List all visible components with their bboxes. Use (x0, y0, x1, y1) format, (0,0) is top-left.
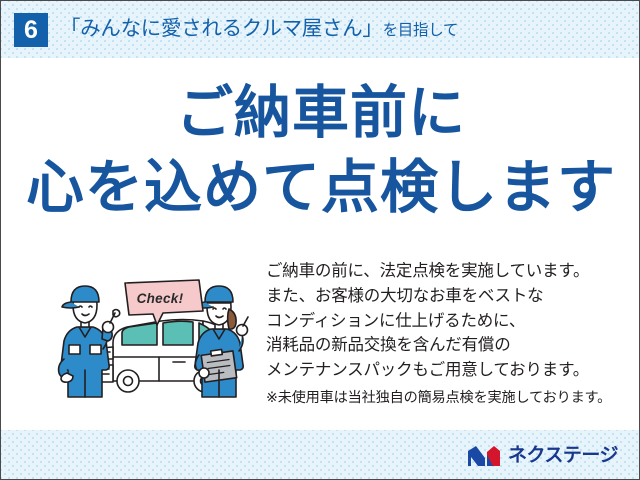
advertisement-page: 6 「みんなに愛されるクルマ屋さん」 を目指して ご納車前に 心を込めて点検しま… (0, 0, 640, 480)
headline-line-1: ご納車前に (1, 85, 640, 142)
body-line-1: ご納車の前に、法定点検を実施しています。 (266, 259, 631, 284)
brand-logo: ネクステージ (467, 442, 618, 469)
headline-line-2: 心を込めて点検します (1, 159, 640, 217)
body-line-3: コンディションに仕上げるために、 (266, 309, 631, 334)
header: 6 「みんなに愛されるクルマ屋さん」 を目指して (1, 1, 640, 58)
female-mechanic-figure (195, 286, 248, 397)
body-line-5: メンテナンスパックもご用意しております。 (266, 358, 631, 383)
mechanics-illustration: Check! (53, 269, 263, 404)
body-line-4: 消耗品の新品交換を含んだ有償の (266, 333, 631, 358)
header-title-quoted: 「みんなに愛されるクルマ屋さん」 (60, 19, 383, 40)
header-title-suffix: を目指して (383, 23, 459, 39)
headline: ご納車前に 心を込めて点検します (1, 85, 640, 217)
mechanics-illustration-graphic (53, 269, 263, 404)
brand-name-text: ネクステージ (508, 446, 618, 465)
header-title: 「みんなに愛されるクルマ屋さん」 を目指して (60, 19, 458, 40)
body-copy: ご納車の前に、法定点検を実施しています。 また、お客様の大切なお車をベストな コ… (266, 259, 631, 409)
body-line-2: また、お客様の大切なお車をベストな (266, 284, 631, 309)
step-number-badge: 6 (14, 13, 48, 47)
nextage-n-mark-icon (467, 444, 501, 468)
check-speech-bubble (125, 280, 203, 325)
body-disclaimer-note: ※未使用車は当社独自の簡易点検を実施しております。 (266, 388, 631, 409)
